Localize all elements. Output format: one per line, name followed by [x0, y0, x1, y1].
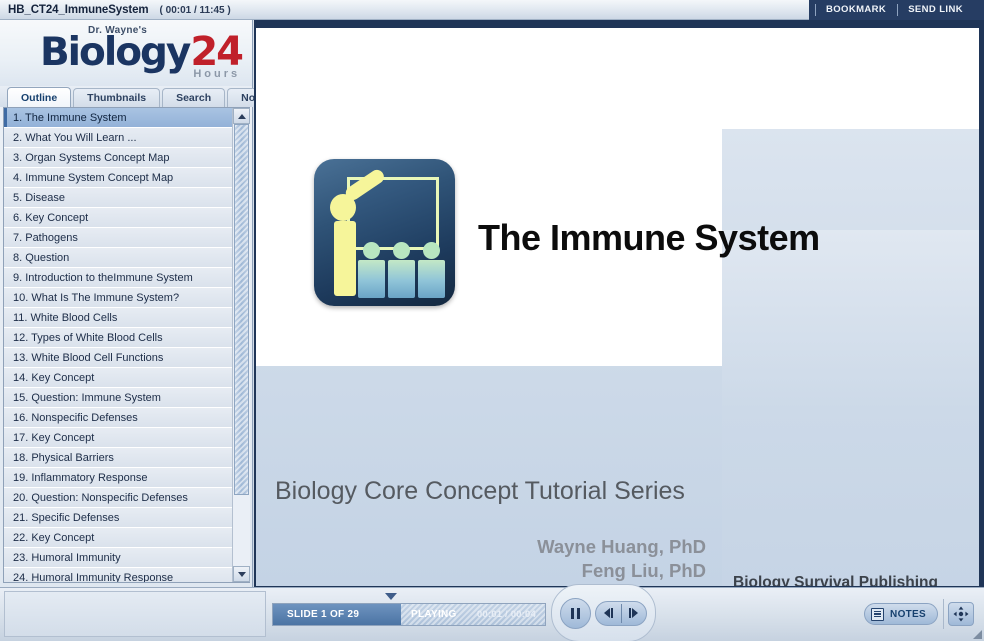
- progress-marker-icon: [385, 593, 397, 600]
- pause-button[interactable]: [560, 598, 591, 629]
- notes-button[interactable]: NOTES: [864, 603, 938, 625]
- teacher-body-icon: [334, 221, 356, 296]
- pause-icon: [571, 608, 574, 619]
- outline-panel: 1. The Immune System2. What You Will Lea…: [3, 107, 250, 583]
- outline-item[interactable]: 4. Immune System Concept Map: [4, 168, 232, 188]
- logo-wordmark: Biology: [40, 35, 189, 71]
- tab-search[interactable]: Search: [162, 88, 225, 107]
- bottom-toolbar: SLIDE 1 OF 29 PLAYING 00:01 / 00:04: [0, 587, 984, 641]
- outline-item[interactable]: 17. Key Concept: [4, 428, 232, 448]
- slide-counter: SLIDE 1 OF 29: [273, 604, 401, 625]
- student-icon: [418, 242, 445, 298]
- outline-item[interactable]: 23. Humoral Immunity: [4, 548, 232, 568]
- outline-item[interactable]: 2. What You Will Learn ...: [4, 128, 232, 148]
- step-forward-icon: [629, 608, 639, 618]
- student-icon: [388, 242, 415, 298]
- total-time: ( 00:01 / 11:45 ): [160, 5, 231, 16]
- progress-area: SLIDE 1 OF 29 PLAYING 00:01 / 00:04: [272, 588, 550, 641]
- outline-item[interactable]: 14. Key Concept: [4, 368, 232, 388]
- step-buttons: [595, 601, 647, 626]
- next-button[interactable]: [621, 602, 646, 625]
- outline-item[interactable]: 19. Inflammatory Response: [4, 468, 232, 488]
- tab-thumbnails[interactable]: Thumbnails: [73, 88, 160, 107]
- author-name: Wayne Huang, PhD: [256, 535, 706, 559]
- resize-corner[interactable]: [973, 630, 982, 639]
- pause-icon: [577, 608, 580, 619]
- slide-series-subtitle: Biology Core Concept Tutorial Series: [275, 477, 685, 506]
- playback-state: PLAYING: [411, 609, 457, 620]
- scrollbar-track[interactable]: [233, 124, 250, 566]
- outline-item[interactable]: 10. What Is The Immune System?: [4, 288, 232, 308]
- bottom-left-panel: [4, 591, 266, 637]
- previous-button[interactable]: [596, 602, 621, 625]
- outline-item[interactable]: 15. Question: Immune System: [4, 388, 232, 408]
- teacher-classroom-icon: [314, 159, 455, 306]
- slide-top-band: [256, 28, 979, 129]
- outline-item[interactable]: 21. Specific Defenses: [4, 508, 232, 528]
- document-icon: [871, 608, 884, 621]
- author-name: Feng Liu, PhD: [256, 559, 706, 583]
- student-icon: [358, 242, 385, 298]
- outline-scrollbar[interactable]: [232, 108, 249, 582]
- outline-item[interactable]: 1. The Immune System: [4, 108, 232, 128]
- logo-in: In: [192, 20, 202, 22]
- scrollbar-thumb[interactable]: [234, 124, 249, 495]
- file-title: HB_CT24_ImmuneSystem: [8, 4, 149, 16]
- outline-item[interactable]: 16. Nonspecific Defenses: [4, 408, 232, 428]
- title-bar-actions: BOOKMARK SEND LINK: [809, 0, 984, 20]
- fullscreen-button[interactable]: [948, 602, 974, 626]
- outline-item[interactable]: 22. Key Concept: [4, 528, 232, 548]
- outline-item[interactable]: 18. Physical Barriers: [4, 448, 232, 468]
- title-bar: HB_CT24_ImmuneSystem ( 00:01 / 11:45 ) B…: [0, 0, 984, 20]
- slide-frame: Biology Core Concept Tutorial Series Way…: [254, 20, 984, 587]
- outline-item[interactable]: 7. Pathogens: [4, 228, 232, 248]
- slide-title: The Immune System: [478, 217, 820, 259]
- title-bar-left: HB_CT24_ImmuneSystem ( 00:01 / 11:45 ): [8, 0, 231, 20]
- chevron-down-icon: [238, 572, 246, 577]
- playback-status-track[interactable]: PLAYING 00:01 / 00:04: [401, 604, 545, 625]
- outline-item[interactable]: 9. Introduction to theImmune System: [4, 268, 232, 288]
- outline-item[interactable]: 13. White Blood Cell Functions: [4, 348, 232, 368]
- slide-right-column: [722, 230, 979, 586]
- bottom-right-actions: NOTES: [860, 591, 980, 637]
- panel-tabs: OutlineThumbnailsSearchNotes: [0, 86, 252, 107]
- outline-item[interactable]: 11. White Blood Cells: [4, 308, 232, 328]
- progress-bar[interactable]: SLIDE 1 OF 29 PLAYING 00:01 / 00:04: [272, 603, 546, 626]
- outline-list[interactable]: 1. The Immune System2. What You Will Lea…: [4, 108, 232, 582]
- scroll-up-button[interactable]: [233, 108, 250, 124]
- tab-outline[interactable]: Outline: [7, 87, 71, 107]
- divider: [943, 599, 944, 629]
- outline-item[interactable]: 8. Question: [4, 248, 232, 268]
- media-player-window: HB_CT24_ImmuneSystem ( 00:01 / 11:45 ) B…: [0, 0, 984, 641]
- slide-canvas[interactable]: Biology Core Concept Tutorial Series Way…: [256, 28, 979, 586]
- expand-arrows-icon: [953, 606, 969, 622]
- scroll-down-button[interactable]: [233, 566, 250, 582]
- logo-hours: Hours: [193, 69, 240, 80]
- left-panel: Dr. Wayne's Biology In 24 Hours OutlineT…: [0, 20, 253, 587]
- brand-logo: Dr. Wayne's Biology In 24 Hours: [0, 20, 252, 86]
- send-link-button[interactable]: SEND LINK: [897, 0, 974, 20]
- outline-item[interactable]: 24. Humoral Immunity Response: [4, 568, 232, 582]
- outline-item[interactable]: 6. Key Concept: [4, 208, 232, 228]
- bookmark-button[interactable]: BOOKMARK: [815, 0, 897, 20]
- chevron-up-icon: [238, 114, 246, 119]
- transport-controls: [551, 584, 656, 641]
- playback-time: 00:01 / 00:04: [477, 609, 536, 620]
- outline-item[interactable]: 20. Question: Nonspecific Defenses: [4, 488, 232, 508]
- notes-button-label: NOTES: [890, 609, 926, 620]
- publisher-name: Biology Survival Publishing: [733, 574, 973, 586]
- outline-item[interactable]: 3. Organ Systems Concept Map: [4, 148, 232, 168]
- publisher-block: Biology Survival Publishing www.BiologyS…: [733, 574, 973, 586]
- outline-item[interactable]: 5. Disease: [4, 188, 232, 208]
- step-back-icon: [604, 608, 614, 618]
- slide-authors: Wayne Huang, PhDFeng Liu, PhDManjula Sha…: [256, 535, 716, 586]
- outline-item[interactable]: 12. Types of White Blood Cells: [4, 328, 232, 348]
